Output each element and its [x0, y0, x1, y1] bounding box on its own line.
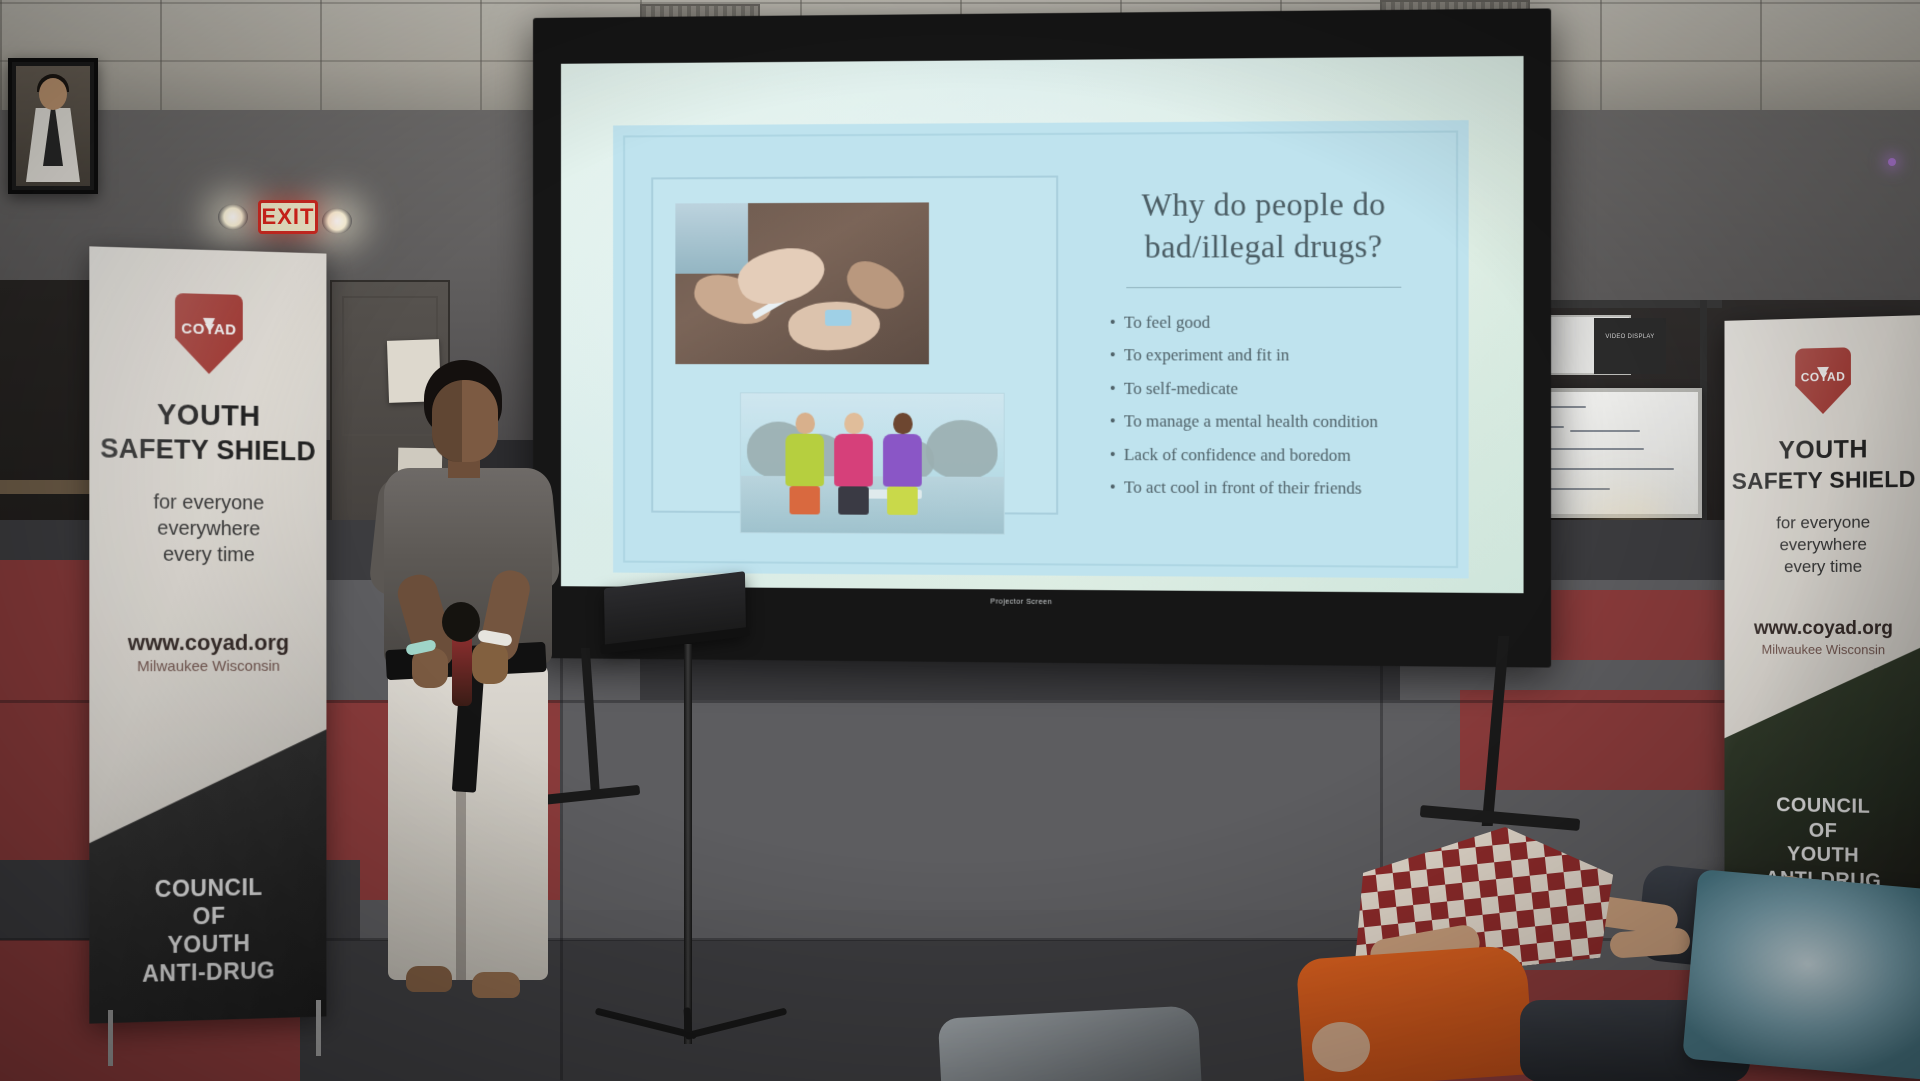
slide-bullet-text: To act cool in front of their friends [1124, 478, 1362, 498]
banner-tagline: for everyone everywhere every time [1724, 511, 1920, 579]
emergency-light-icon [322, 208, 352, 234]
slide-bullet-text: To self-medicate [1124, 379, 1238, 399]
slide-bullet-text: To manage a mental health condition [1124, 412, 1378, 432]
audience-child-leg [1609, 927, 1691, 959]
bullet-marker-icon: • [1110, 445, 1116, 464]
slide-bullet-item: •To self-medicate [1110, 381, 1437, 398]
slide-bullet-item: •To act cool in front of their friends [1110, 480, 1437, 498]
banner-left: COYAD YOUTH SAFETY SHIELD for everyone e… [89, 246, 326, 1023]
audience-child-head [1312, 1022, 1370, 1072]
blanket-grey [938, 1005, 1202, 1081]
bullet-marker-icon: • [1110, 412, 1116, 431]
portrait-head [39, 78, 67, 110]
banner-city: Milwaukee Wisconsin [1724, 642, 1920, 658]
banner-tagline-line-1: for everyone [89, 489, 326, 517]
exit-sign: EXIT [258, 200, 318, 234]
slide-bullet-text: To experiment and fit in [1124, 345, 1289, 364]
banner-stand-pole [316, 1000, 321, 1056]
slide-bullet-item: •Lack of confidence and boredom [1110, 447, 1437, 465]
coyad-shield-logo-icon: COYAD [175, 293, 243, 375]
banner-city: Milwaukee Wisconsin [89, 658, 326, 676]
pill-packet-icon [825, 310, 851, 326]
presenter-hand [472, 642, 508, 684]
wall-shelf [0, 480, 96, 494]
slide-image-panel [651, 176, 1058, 515]
screen-surface: Why do people do bad/illegal drugs? •To … [561, 56, 1524, 593]
music-stand-pole [684, 644, 692, 1044]
photo-sky [675, 203, 748, 274]
microphone-icon [442, 602, 480, 642]
banner-url: www.coyad.org [1724, 618, 1920, 640]
presenter-hand [412, 648, 448, 688]
coyad-logo-text: COYAD [175, 320, 243, 339]
bullet-marker-icon: • [1110, 378, 1116, 397]
slide-bullet-item: •To manage a mental health condition [1110, 414, 1437, 432]
presenter-pants-fold [456, 790, 466, 980]
banner-tagline-line-1: for everyone [1724, 511, 1920, 535]
exit-sign-label: EXIT [261, 203, 315, 231]
banner-heading-line-2: SAFETY SHIELD [1724, 466, 1920, 496]
presenter [360, 360, 560, 1040]
equipment-rack-label: VIDEO DISPLAY [1598, 334, 1662, 340]
banner-tagline-line-2: everywhere [89, 515, 326, 543]
banner-tagline-line-3: every time [1724, 556, 1920, 579]
microphone-body [452, 634, 472, 706]
emergency-light-icon [218, 204, 248, 230]
coyad-shield-logo-icon: COYAD [1795, 347, 1851, 414]
bullet-marker-icon: • [1110, 345, 1116, 364]
mat-section [560, 700, 1460, 910]
projection-screen: Why do people do bad/illegal drugs? •To … [533, 8, 1551, 667]
slide-title-divider [1126, 287, 1401, 288]
presenter-face-shadow [432, 380, 462, 462]
bullet-marker-icon: • [1110, 312, 1116, 331]
slide-bullet-text: To feel good [1124, 312, 1210, 331]
banner-tagline-line-2: everywhere [1724, 533, 1920, 556]
banner-heading-line-1: YOUTH [1724, 434, 1920, 466]
slide-bullet-item: •To experiment and fit in [1110, 347, 1437, 364]
slide-bullet-text: Lack of confidence and boredom [1124, 445, 1351, 465]
banner-heading-line-1: YOUTH [89, 398, 326, 435]
slide-bullet-list: •To feel good •To experiment and fit in … [1091, 314, 1437, 498]
bullet-marker-icon: • [1110, 478, 1116, 497]
slide-photo-drug-exchange [675, 202, 929, 364]
slide-illustration-peer-pressure [740, 392, 1005, 534]
banner-url: www.coyad.org [89, 630, 326, 656]
banner-tagline-line-3: every time [89, 541, 326, 569]
slide-title-line-2: bad/illegal drugs? [1091, 226, 1437, 269]
presenter-foot [406, 966, 452, 992]
illustration-teen [883, 413, 922, 515]
banner-heading-line-2: SAFETY SHIELD [89, 433, 326, 467]
illustration-teen [785, 413, 824, 515]
illustration-teen [834, 413, 873, 515]
banner-tagline: for everyone everywhere every time [89, 489, 326, 569]
banner-footer-text: COUNCIL OF YOUTH ANTI-DRUG [89, 872, 326, 990]
presenter-foot [472, 972, 520, 998]
presentation-slide: Why do people do bad/illegal drugs? •To … [613, 120, 1469, 578]
presentation-room-scene: EXIT VIDEO DISPLAY [0, 0, 1920, 1081]
blanket-teal [1682, 869, 1920, 1081]
framed-portrait [8, 58, 98, 194]
equipment-rack [1594, 318, 1666, 374]
indicator-light-icon [1888, 158, 1896, 166]
slide-text-panel: Why do people do bad/illegal drugs? •To … [1091, 161, 1437, 537]
slide-title: Why do people do bad/illegal drugs? [1091, 161, 1437, 268]
banner-right: COYAD YOUTH SAFETY SHIELD for everyone e… [1724, 315, 1920, 921]
banner-stand-pole [108, 1010, 113, 1066]
slide-bullet-item: •To feel good [1110, 314, 1437, 331]
slide-title-line-1: Why do people do [1091, 184, 1437, 227]
coyad-logo-text: COYAD [1795, 369, 1851, 384]
screen-brand-label: Projector Screen [990, 598, 1052, 606]
